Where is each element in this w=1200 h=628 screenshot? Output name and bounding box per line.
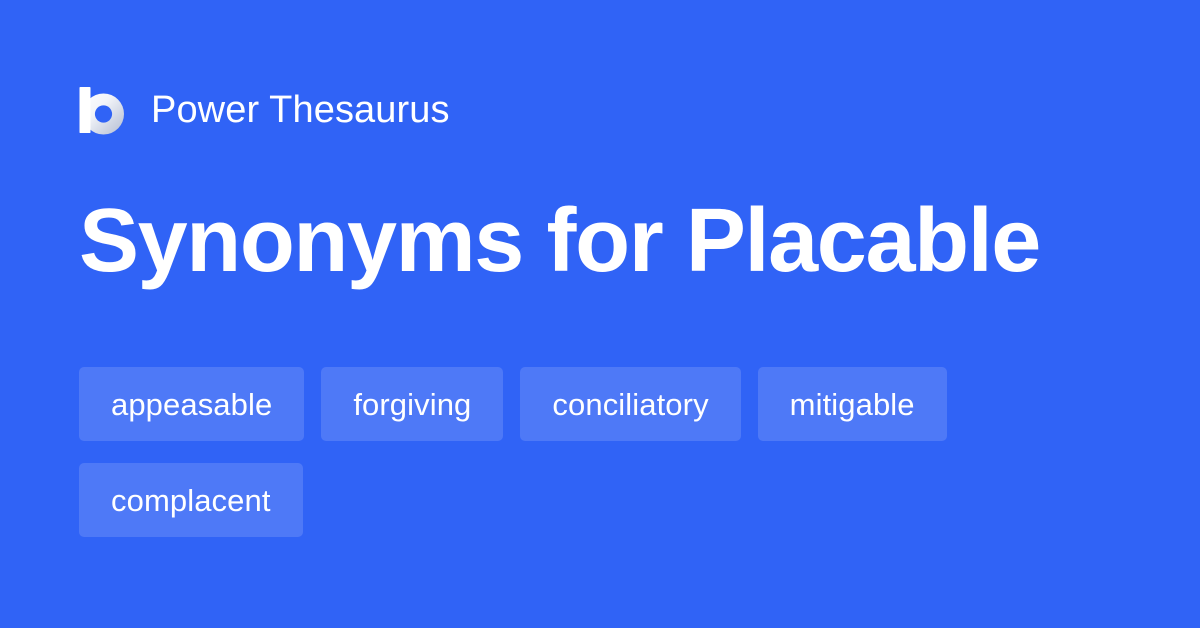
share-card: Power thesaurus Synonyms for Placable ap… [0, 0, 1200, 628]
brand-name: Power thesaurus [151, 91, 450, 129]
page-title: Synonyms for Placable [79, 196, 1040, 286]
synonym-chip[interactable]: appeasable [79, 367, 304, 441]
synonym-chip[interactable]: complacent [79, 463, 303, 537]
synonym-chip[interactable]: mitigable [758, 367, 947, 441]
brand-header[interactable]: Power thesaurus [79, 82, 450, 138]
synonym-chip[interactable]: conciliatory [520, 367, 740, 441]
synonym-list: appeasable forgiving conciliatory mitiga… [79, 367, 1129, 537]
synonym-chip[interactable]: forgiving [321, 367, 503, 441]
power-thesaurus-logo-icon [79, 85, 125, 135]
